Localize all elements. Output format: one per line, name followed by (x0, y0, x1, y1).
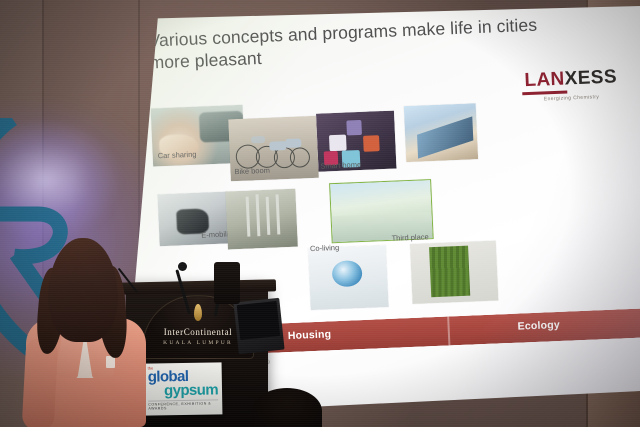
conference-sign: the global gypsum CONFERENCE, EXHIBITION… (144, 362, 223, 415)
presenter-arm (22, 337, 59, 427)
conference-sign-subtitle: CONFERENCE, EXHIBITION & AWARDS (148, 399, 218, 410)
conference-sign-word2: gypsum (148, 383, 218, 398)
presenter (22, 238, 148, 427)
laptop-screen (237, 301, 280, 340)
foreground-object (214, 262, 240, 304)
conference-photo: CC Gy Promoting EN Various concepts and … (0, 0, 640, 427)
microphone-head (178, 262, 187, 271)
presenter-laptop (233, 298, 284, 355)
intercontinental-emblem-icon (194, 304, 202, 321)
presenter-hair (48, 238, 118, 342)
foreground-audience-head (252, 388, 322, 427)
